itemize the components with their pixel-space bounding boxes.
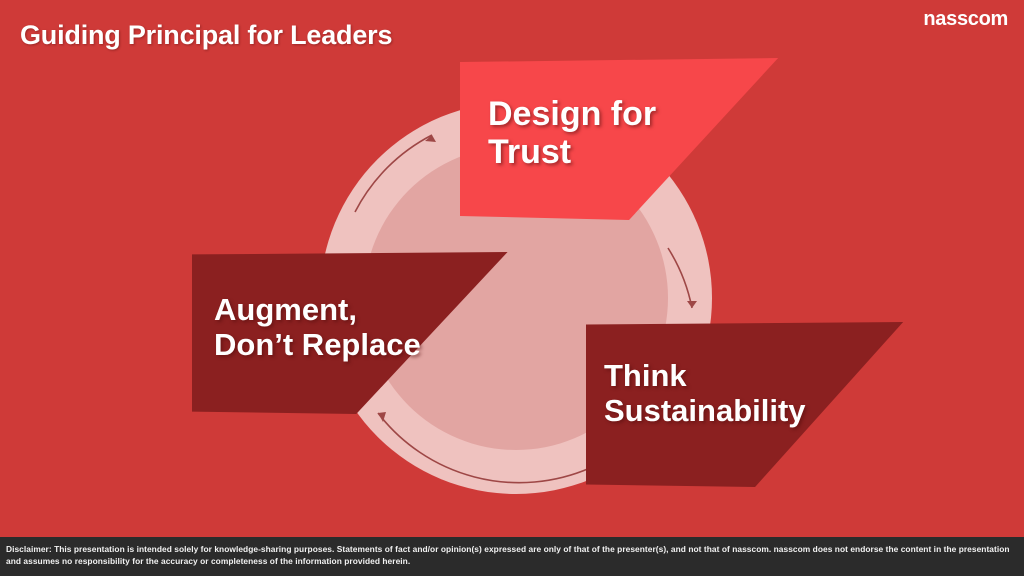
disclaimer-bar: Disclaimer: This presentation is intende…	[0, 537, 1024, 576]
presentation-slide: Guiding Principal for Leaders nasscom De…	[0, 0, 1024, 576]
disclaimer-text: Disclaimer: This presentation is intende…	[6, 543, 1016, 567]
